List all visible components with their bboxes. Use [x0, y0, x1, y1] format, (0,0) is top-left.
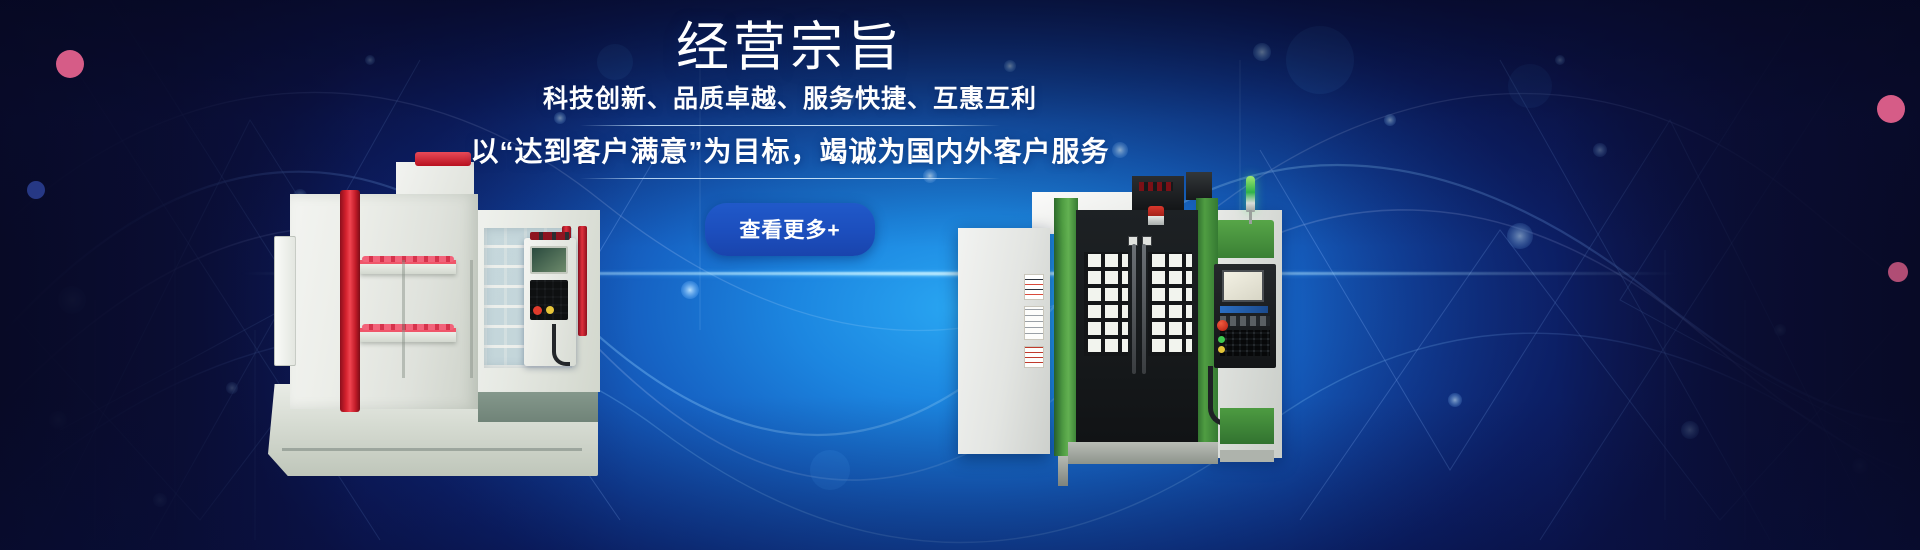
view-more-button[interactable]: 查看更多+	[705, 203, 874, 256]
divider-bottom	[580, 178, 1000, 179]
banner-title: 经营宗旨	[460, 18, 1120, 77]
divider-top	[580, 125, 1000, 126]
text-block: 经营宗旨 科技创新、品质卓越、服务快捷、互惠互利 以“达到客户满意”为目标，竭诚…	[460, 18, 1120, 256]
banner-subtitle: 科技创新、品质卓越、服务快捷、互惠互利	[460, 83, 1120, 116]
promo-banner: 经营宗旨 科技创新、品质卓越、服务快捷、互惠互利 以“达到客户满意”为目标，竭诚…	[0, 0, 1920, 550]
banner-content: 经营宗旨 科技创新、品质卓越、服务快捷、互惠互利 以“达到客户满意”为目标，竭诚…	[0, 0, 1920, 550]
banner-tagline: 以“达到客户满意”为目标，竭诚为国内外客户服务	[460, 134, 1120, 170]
